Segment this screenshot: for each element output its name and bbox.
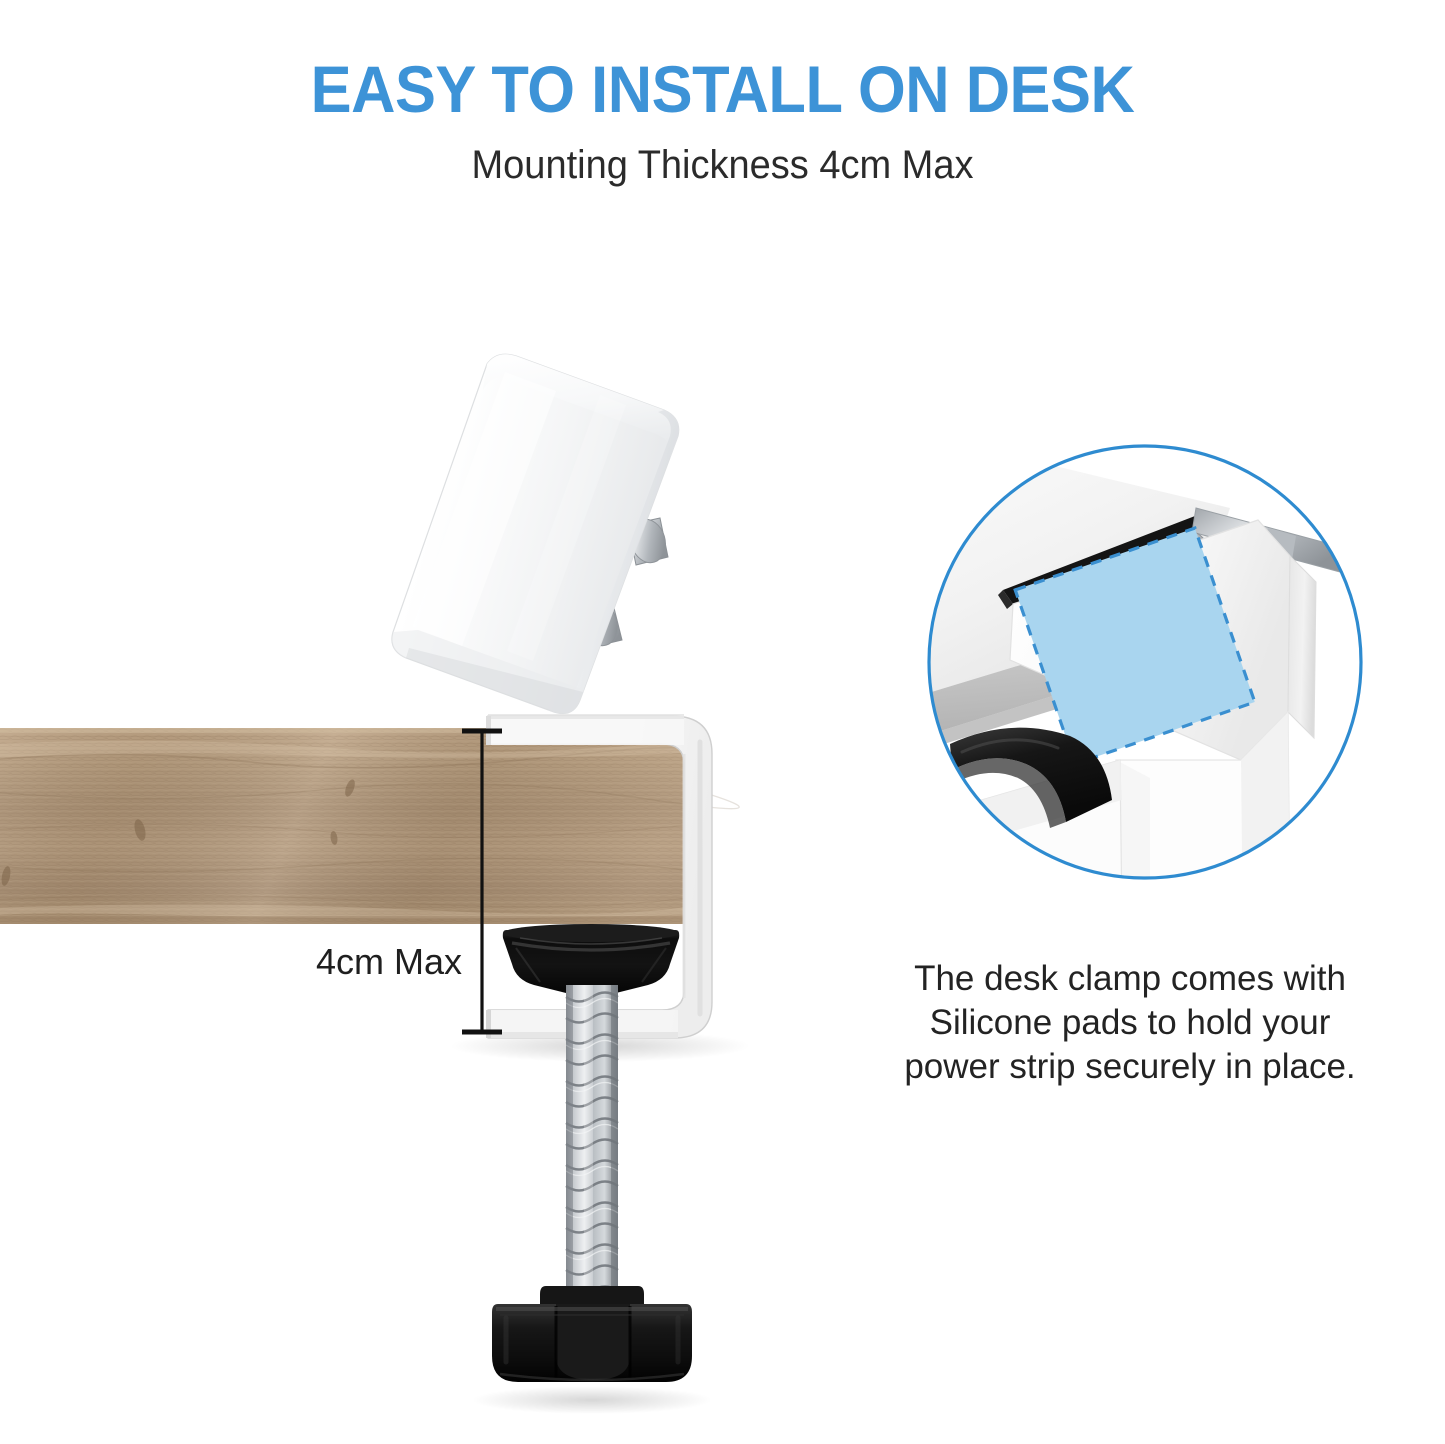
black-silicone-pad [503, 924, 679, 993]
product-infographic: EASY TO INSTALL ON DESK Mounting Thickne… [0, 0, 1445, 1444]
metal-threaded-screw [566, 985, 618, 1296]
silicone-pad-closeup [905, 430, 1372, 1000]
white-power-strip-body [392, 354, 679, 713]
black-thumbscrew-knob [472, 1286, 712, 1414]
dimension-label: 4cm Max [316, 940, 462, 984]
silicone-pad-caption: The desk clamp comes with Silicone pads … [880, 957, 1380, 1089]
desk-clamp-mounting-illustration [0, 0, 1445, 1444]
wood-desk-top [0, 728, 739, 924]
